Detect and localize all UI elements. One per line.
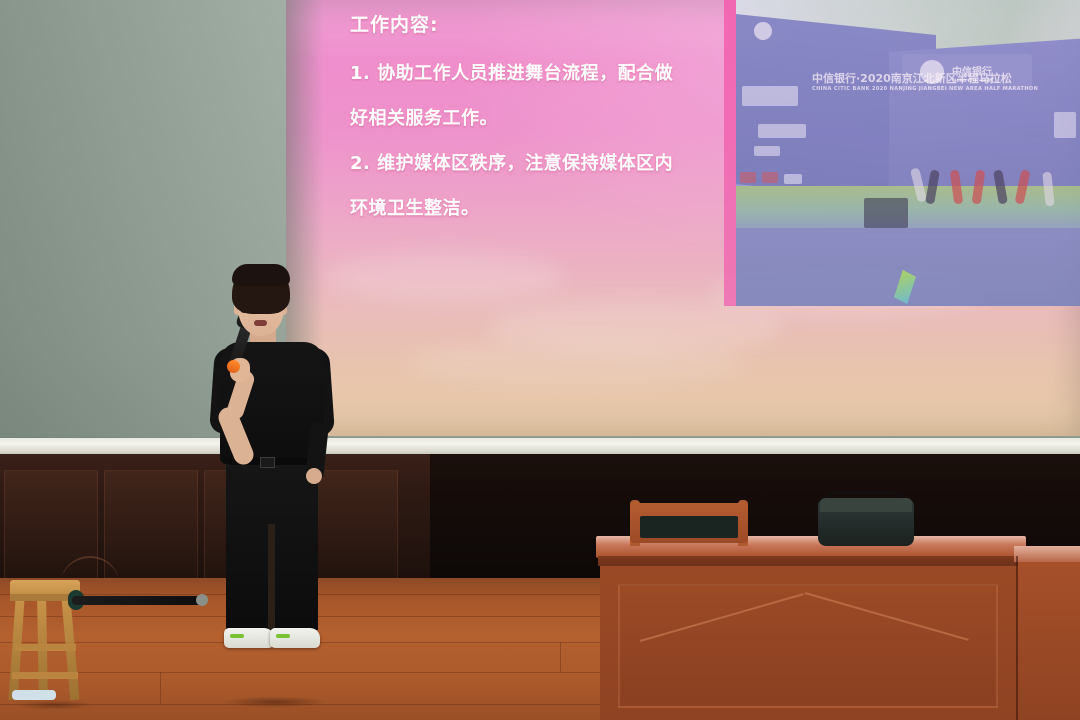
photo-sponsor-board xyxy=(1054,112,1076,138)
photo-banner-latin-text: CHINA CITIC BANK 2020 NANJING JIANGBEI N… xyxy=(812,86,1038,92)
shoe-left xyxy=(224,628,274,648)
shoe-accent-right xyxy=(276,634,290,638)
slide-line-4: 环境卫生整洁。 xyxy=(350,186,750,231)
mouth xyxy=(254,320,267,326)
photo-scene: 工作内容: 1. 协助工作人员推进舞台流程，配合做 好相关服务工作。 2. 维护… xyxy=(0,0,1080,720)
podium-side-section xyxy=(1018,548,1080,720)
photo-sponsor-board xyxy=(784,174,802,184)
stool-rung xyxy=(12,672,78,679)
photo-sponsor-board xyxy=(754,146,780,156)
photo-event-logo-icon xyxy=(754,22,772,40)
shoe-accent-left xyxy=(230,634,244,638)
wainscot-panel xyxy=(104,470,198,582)
photo-sponsor-board xyxy=(742,86,798,106)
presenter-person xyxy=(196,262,356,702)
podium-front-panel xyxy=(618,584,998,708)
slide-line-3: 2. 维护媒体区秩序，注意保持媒体区内 xyxy=(350,141,750,186)
shoe-right xyxy=(270,628,320,648)
hair-fringe xyxy=(232,264,290,286)
podium-edge-molding xyxy=(598,556,1026,566)
photo-sponsor-board xyxy=(762,172,778,183)
mic-stand-pole xyxy=(72,596,204,605)
podium-seam-line xyxy=(1016,556,1018,720)
slide-title: 工作内容: xyxy=(350,10,750,37)
slide-text-block: 工作内容: 1. 协助工作人员推进舞台流程，配合做 好相关服务工作。 2. 维护… xyxy=(350,4,750,231)
slide-cloud-shape xyxy=(406,340,746,386)
photo-stage-speaker-box xyxy=(864,198,908,228)
slide-embedded-photo: 中信银行·2020南京江北新区半程马拉松 CHINA CITIC BANK 20… xyxy=(724,0,1080,306)
photo-logo-sub-text: CHINA CITIC BANK xyxy=(952,78,993,83)
leg-separation xyxy=(268,524,275,630)
hand-right xyxy=(306,468,322,484)
stool-rung xyxy=(14,644,76,651)
backpack-flap xyxy=(820,498,912,512)
slide-line-2: 好相关服务工作。 xyxy=(350,96,750,141)
chair-cushion xyxy=(640,516,738,538)
slide-line-1: 1. 协助工作人员推进舞台流程，配合做 xyxy=(350,51,750,96)
podium-side-surface xyxy=(1014,546,1080,562)
wall-trim-strip xyxy=(0,438,1080,455)
slide-cloud-shape xyxy=(326,250,566,304)
belt-buckle xyxy=(260,457,275,468)
photo-logo-text: 中信银行 xyxy=(952,63,992,78)
photo-sponsor-board xyxy=(740,172,756,183)
floor-cable xyxy=(12,690,56,700)
photo-accent-bar xyxy=(724,0,736,306)
photo-sponsor-board xyxy=(758,124,806,138)
projection-screen: 工作内容: 1. 协助工作人员推进舞台流程，配合做 好相关服务工作。 2. 维护… xyxy=(286,0,1080,436)
